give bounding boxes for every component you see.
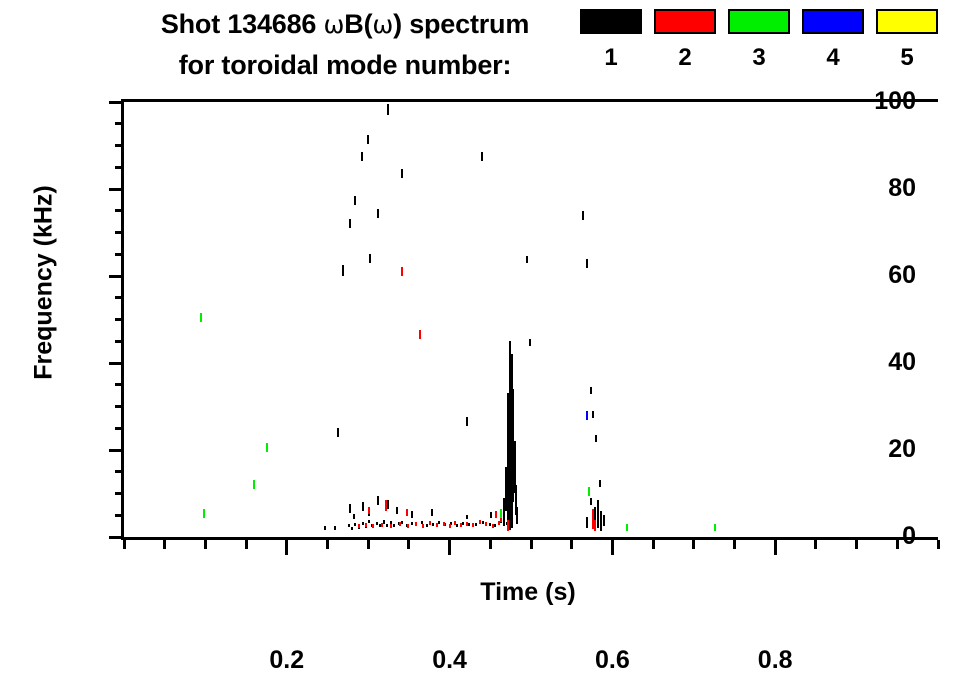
data-mark-mode-2 bbox=[401, 267, 403, 276]
data-mark-mode-1 bbox=[393, 524, 395, 527]
y-tick-minor bbox=[115, 340, 124, 343]
title-line-2: for toroidal mode number: bbox=[110, 45, 580, 85]
data-mark-mode-1 bbox=[383, 520, 385, 524]
data-mark-mode-1 bbox=[595, 435, 597, 442]
legend-swatch-mode-3 bbox=[728, 9, 790, 34]
x-tick-minor bbox=[896, 540, 899, 549]
y-tick-major bbox=[109, 275, 124, 278]
x-tick-label: 0.2 bbox=[242, 647, 332, 673]
data-mark-mode-2 bbox=[419, 330, 421, 339]
data-mark-mode-3 bbox=[266, 443, 268, 452]
data-mark-mode-1 bbox=[529, 339, 531, 346]
legend-swatch-mode-1 bbox=[580, 9, 642, 34]
data-mark-mode-1 bbox=[590, 498, 592, 505]
x-tick-minor bbox=[652, 540, 655, 549]
data-mark-mode-1 bbox=[396, 507, 398, 514]
data-mark-mode-1 bbox=[526, 256, 528, 263]
x-tick-minor bbox=[163, 540, 166, 549]
data-mark-mode-2 bbox=[390, 524, 392, 528]
legend-entry-mode-2[interactable]: 2 bbox=[654, 9, 716, 71]
x-tick-label: 0.6 bbox=[567, 647, 657, 673]
y-tick-minor bbox=[115, 144, 124, 147]
data-mark-mode-1 bbox=[586, 259, 588, 268]
data-mark-mode-1 bbox=[411, 522, 413, 525]
data-mark-mode-2 bbox=[436, 523, 438, 527]
y-tick-minor bbox=[115, 427, 124, 430]
data-mark-mode-3 bbox=[253, 480, 255, 489]
data-mark-mode-1 bbox=[368, 520, 370, 523]
data-mark-mode-1 bbox=[334, 526, 336, 530]
data-mark-mode-1 bbox=[349, 504, 351, 513]
x-tick-minor bbox=[326, 540, 329, 549]
y-tick-label: 100 bbox=[826, 88, 916, 114]
y-tick-minor bbox=[115, 470, 124, 473]
legend-entry-mode-5[interactable]: 5 bbox=[876, 9, 938, 71]
omega-symbol-1: ω bbox=[324, 10, 345, 39]
data-mark-mode-2 bbox=[507, 520, 509, 531]
data-mark-mode-2 bbox=[594, 520, 596, 531]
legend-label-mode-1: 1 bbox=[580, 45, 642, 71]
data-mark-mode-2 bbox=[415, 522, 417, 526]
y-tick-major bbox=[109, 188, 124, 191]
data-mark-mode-2 bbox=[406, 509, 408, 516]
data-mark-mode-1 bbox=[426, 524, 428, 527]
data-mark-mode-1 bbox=[362, 502, 364, 511]
data-mark-mode-1 bbox=[362, 522, 364, 525]
data-mark-mode-1 bbox=[462, 522, 464, 525]
data-mark-mode-1 bbox=[354, 523, 356, 526]
x-tick-major bbox=[448, 540, 451, 555]
x-tick-minor bbox=[733, 540, 736, 549]
data-mark-mode-1 bbox=[387, 500, 389, 509]
x-tick-minor bbox=[855, 540, 858, 549]
data-mark-mode-2 bbox=[460, 523, 462, 527]
data-mark-mode-1 bbox=[590, 387, 592, 394]
data-mark-mode-2 bbox=[495, 511, 497, 518]
data-mark-mode-1 bbox=[387, 104, 389, 115]
y-tick-minor bbox=[115, 296, 124, 299]
data-mark-mode-1 bbox=[361, 152, 363, 161]
data-mark-mode-2 bbox=[479, 520, 481, 524]
y-tick-major bbox=[109, 536, 124, 539]
plot-area: 0204060801000.20.40.60.8 bbox=[121, 99, 938, 540]
data-mark-mode-1 bbox=[503, 498, 505, 526]
y-axis-label: Frequency (kHz) bbox=[30, 153, 59, 413]
data-mark-mode-1 bbox=[456, 524, 458, 527]
data-mark-mode-1 bbox=[401, 521, 403, 524]
x-tick-minor bbox=[530, 540, 533, 549]
data-mark-mode-1 bbox=[337, 428, 339, 437]
y-tick-minor bbox=[115, 231, 124, 234]
data-mark-mode-1 bbox=[600, 511, 602, 531]
data-mark-mode-1 bbox=[507, 393, 509, 441]
data-mark-mode-1 bbox=[582, 211, 584, 220]
data-mark-mode-1 bbox=[603, 515, 605, 526]
data-mark-mode-1 bbox=[376, 522, 378, 525]
legend-label-mode-4: 4 bbox=[802, 45, 864, 71]
data-mark-mode-1 bbox=[377, 209, 379, 218]
title-line-1: Shot 134686 ωB(ω) spectrum bbox=[110, 4, 580, 45]
data-mark-mode-3 bbox=[626, 524, 628, 531]
data-mark-mode-1 bbox=[599, 480, 601, 487]
data-mark-mode-1 bbox=[592, 411, 594, 418]
data-mark-mode-1 bbox=[481, 152, 483, 161]
data-mark-mode-1 bbox=[349, 219, 351, 228]
data-mark-mode-1 bbox=[466, 515, 468, 519]
x-tick-major bbox=[774, 540, 777, 555]
data-mark-mode-3 bbox=[200, 313, 202, 322]
x-tick-minor bbox=[367, 540, 370, 549]
y-tick-major bbox=[109, 449, 124, 452]
data-mark-mode-2 bbox=[407, 524, 409, 528]
y-tick-label: 0 bbox=[826, 523, 916, 549]
data-mark-mode-3 bbox=[714, 524, 716, 531]
data-mark-mode-3 bbox=[203, 509, 205, 518]
y-tick-major bbox=[109, 101, 124, 104]
figure-title: Shot 134686 ωB(ω) spectrum for toroidal … bbox=[110, 4, 580, 85]
data-mark-mode-1 bbox=[466, 417, 468, 426]
data-mark-mode-4 bbox=[586, 411, 588, 420]
x-tick-minor bbox=[570, 540, 573, 549]
data-mark-mode-2 bbox=[381, 523, 383, 527]
x-tick-minor bbox=[245, 540, 248, 549]
data-mark-mode-1 bbox=[516, 507, 518, 524]
y-tick-label: 20 bbox=[826, 436, 916, 462]
data-mark-mode-1 bbox=[386, 524, 388, 527]
data-mark-mode-1 bbox=[494, 524, 496, 527]
y-tick-major bbox=[109, 362, 124, 365]
x-axis-label: Time (s) bbox=[121, 578, 935, 607]
x-tick-minor bbox=[489, 540, 492, 549]
data-mark-mode-2 bbox=[449, 524, 451, 528]
data-mark-mode-1 bbox=[342, 265, 344, 276]
data-mark-mode-1 bbox=[468, 523, 470, 526]
data-mark-mode-1 bbox=[475, 523, 477, 526]
data-mark-mode-1 bbox=[401, 169, 403, 178]
legend-label-mode-2: 2 bbox=[654, 45, 716, 71]
legend: 12345 bbox=[580, 9, 955, 89]
data-mark-mode-2 bbox=[485, 522, 487, 526]
y-tick-label: 80 bbox=[826, 175, 916, 201]
y-tick-label: 60 bbox=[826, 262, 916, 288]
data-mark-mode-1 bbox=[354, 196, 356, 205]
data-mark-mode-1 bbox=[438, 521, 440, 524]
data-mark-mode-2 bbox=[372, 524, 374, 528]
data-mark-mode-1 bbox=[510, 372, 512, 424]
title-mid: B( bbox=[344, 9, 372, 39]
legend-entry-mode-3[interactable]: 3 bbox=[728, 9, 790, 71]
x-tick-minor bbox=[937, 540, 940, 549]
data-mark-mode-1 bbox=[431, 509, 433, 516]
data-mark-mode-2 bbox=[385, 500, 387, 511]
x-tick-label: 0.4 bbox=[405, 647, 495, 673]
data-mark-mode-1 bbox=[324, 526, 326, 530]
data-mark-mode-3 bbox=[500, 509, 502, 518]
data-mark-mode-1 bbox=[432, 523, 434, 526]
y-tick-minor bbox=[115, 514, 124, 517]
x-tick-minor bbox=[407, 540, 410, 549]
data-mark-mode-2 bbox=[358, 524, 360, 528]
data-mark-mode-2 bbox=[466, 522, 468, 526]
y-tick-minor bbox=[115, 122, 124, 125]
data-mark-mode-1 bbox=[586, 517, 588, 528]
data-mark-mode-1 bbox=[353, 514, 355, 519]
y-tick-minor bbox=[115, 166, 124, 169]
data-mark-mode-3 bbox=[588, 487, 590, 496]
data-mark-mode-2 bbox=[399, 522, 401, 526]
y-tick-minor bbox=[115, 405, 124, 408]
legend-swatch-mode-2 bbox=[654, 9, 716, 34]
data-mark-mode-2 bbox=[472, 523, 474, 527]
data-mark-mode-1 bbox=[369, 254, 371, 263]
data-mark-mode-1 bbox=[597, 500, 599, 528]
data-mark-mode-1 bbox=[367, 135, 369, 144]
data-mark-mode-1 bbox=[411, 511, 413, 518]
omega-symbol-2: ω bbox=[372, 10, 393, 39]
data-mark-mode-1 bbox=[505, 467, 507, 511]
x-tick-minor bbox=[204, 540, 207, 549]
y-tick-minor bbox=[115, 209, 124, 212]
data-mark-mode-2 bbox=[368, 507, 370, 514]
y-tick-minor bbox=[115, 492, 124, 495]
data-mark-mode-1 bbox=[348, 524, 350, 527]
x-tick-major bbox=[285, 540, 288, 555]
data-mark-mode-2 bbox=[429, 521, 431, 525]
legend-swatch-mode-5 bbox=[876, 9, 938, 34]
x-tick-minor bbox=[123, 540, 126, 549]
x-tick-major bbox=[611, 540, 614, 555]
data-mark-mode-1 bbox=[490, 512, 492, 518]
title-prefix: Shot 134686 bbox=[161, 9, 324, 39]
y-tick-minor bbox=[115, 383, 124, 386]
data-mark-mode-2 bbox=[422, 524, 424, 528]
data-mark-mode-1 bbox=[513, 450, 515, 485]
x-tick-label: 0.8 bbox=[730, 647, 820, 673]
x-tick-minor bbox=[692, 540, 695, 549]
data-mark-mode-2 bbox=[454, 521, 456, 525]
data-mark-mode-1 bbox=[482, 521, 484, 524]
y-tick-label: 40 bbox=[826, 349, 916, 375]
data-mark-mode-2 bbox=[492, 524, 494, 528]
x-tick-minor bbox=[814, 540, 817, 549]
data-mark-mode-2 bbox=[365, 523, 367, 527]
y-tick-minor bbox=[115, 253, 124, 256]
data-mark-mode-2 bbox=[443, 522, 445, 526]
legend-swatch-mode-4 bbox=[802, 9, 864, 34]
title-suffix: ) spectrum bbox=[393, 9, 529, 39]
data-mark-mode-1 bbox=[351, 527, 353, 530]
data-mark-mode-1 bbox=[377, 496, 379, 505]
legend-label-mode-3: 3 bbox=[728, 45, 790, 71]
y-tick-minor bbox=[115, 318, 124, 321]
legend-label-mode-5: 5 bbox=[876, 45, 938, 71]
plot-canvas bbox=[124, 102, 938, 537]
legend-entry-mode-1[interactable]: 1 bbox=[580, 9, 642, 71]
legend-entry-mode-4[interactable]: 4 bbox=[802, 9, 864, 71]
spectrum-figure: Shot 134686 ωB(ω) spectrum for toroidal … bbox=[0, 0, 963, 615]
data-mark-mode-1 bbox=[489, 523, 491, 526]
